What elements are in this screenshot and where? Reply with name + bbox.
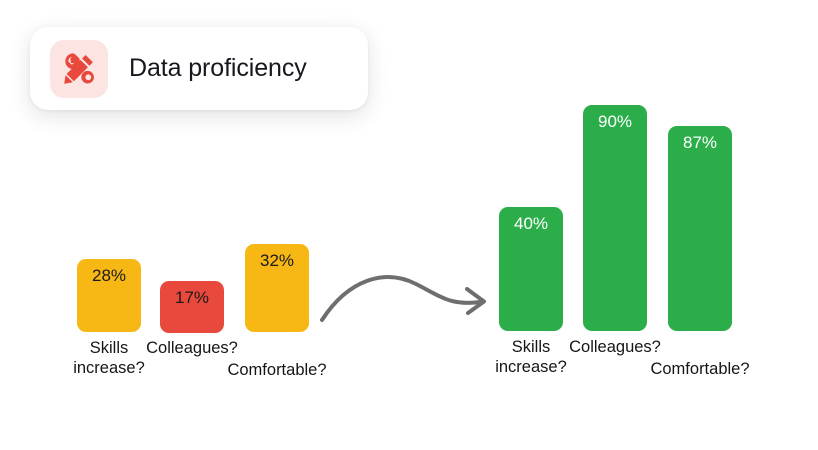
slide-canvas: Data proficiency 28% Skills increase? 17… [0,0,818,450]
tools-wrench-pencil-icon [50,40,108,98]
bar-value-label: 17% [160,288,224,307]
bar-before-skills-increase: 28% [77,259,141,332]
bar-before-comfortable: 32% [245,244,309,332]
bar-before-colleagues: 17% [160,281,224,333]
bar-value-label: 40% [499,214,563,233]
page-title: Data proficiency [129,54,307,83]
title-card: Data proficiency [30,27,368,110]
bar-after-colleagues: 90% [583,105,647,331]
bar-category-label-colleagues: Colleagues? [132,338,252,358]
curved-arrow-icon [312,262,497,332]
bar-category-label-comfortable: Comfortable? [217,360,337,380]
bar-category-label-comfortable: Comfortable? [640,359,760,379]
bar-after-skills-increase: 40% [499,207,563,331]
bar-category-label-colleagues: Colleagues? [555,337,675,357]
bar-value-label: 28% [77,266,141,285]
bar-after-comfortable: 87% [668,126,732,331]
bar-value-label: 32% [245,251,309,270]
bar-value-label: 90% [583,112,647,131]
bar-value-label: 87% [668,133,732,152]
